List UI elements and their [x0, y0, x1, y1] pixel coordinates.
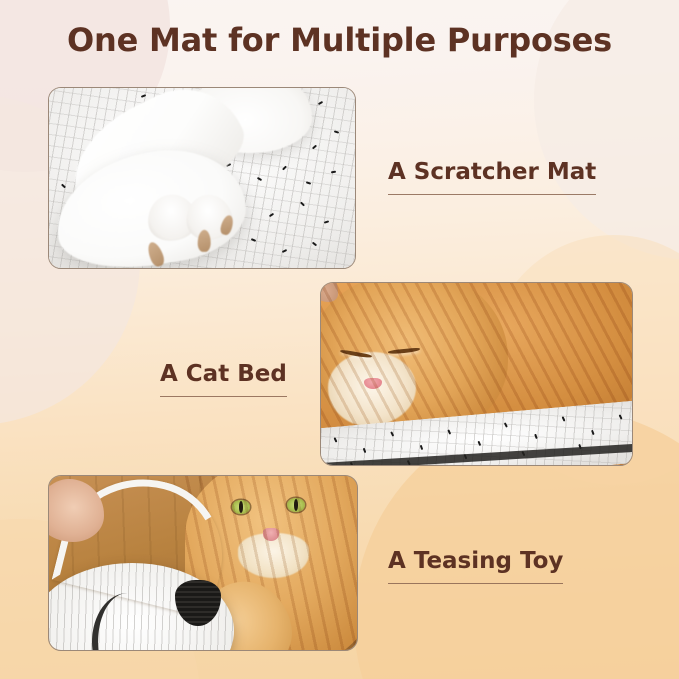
- photo-teasing-toy: [49, 476, 357, 650]
- label-underline: [388, 583, 563, 584]
- label-underline: [388, 194, 596, 195]
- feature-label-scratcher-mat: A Scratcher Mat: [388, 159, 596, 195]
- label-underline: [160, 396, 287, 397]
- feature-photo-scratcher-mat: [48, 87, 356, 269]
- feature-label-teasing-toy: A Teasing Toy: [388, 548, 563, 584]
- photo-scratcher-mat: [49, 88, 355, 268]
- photo-cat-bed: [321, 283, 632, 465]
- promo-graphic: One Mat for Multiple Purposes: [0, 0, 679, 679]
- feature-photo-teasing-toy: [48, 475, 358, 651]
- feature-label-cat-bed: A Cat Bed: [160, 361, 287, 397]
- feature-label-text: A Cat Bed: [160, 361, 287, 387]
- page-title: One Mat for Multiple Purposes: [0, 21, 679, 59]
- feature-photo-cat-bed: [320, 282, 633, 466]
- feature-label-text: A Teasing Toy: [388, 548, 563, 574]
- feature-label-text: A Scratcher Mat: [388, 159, 596, 185]
